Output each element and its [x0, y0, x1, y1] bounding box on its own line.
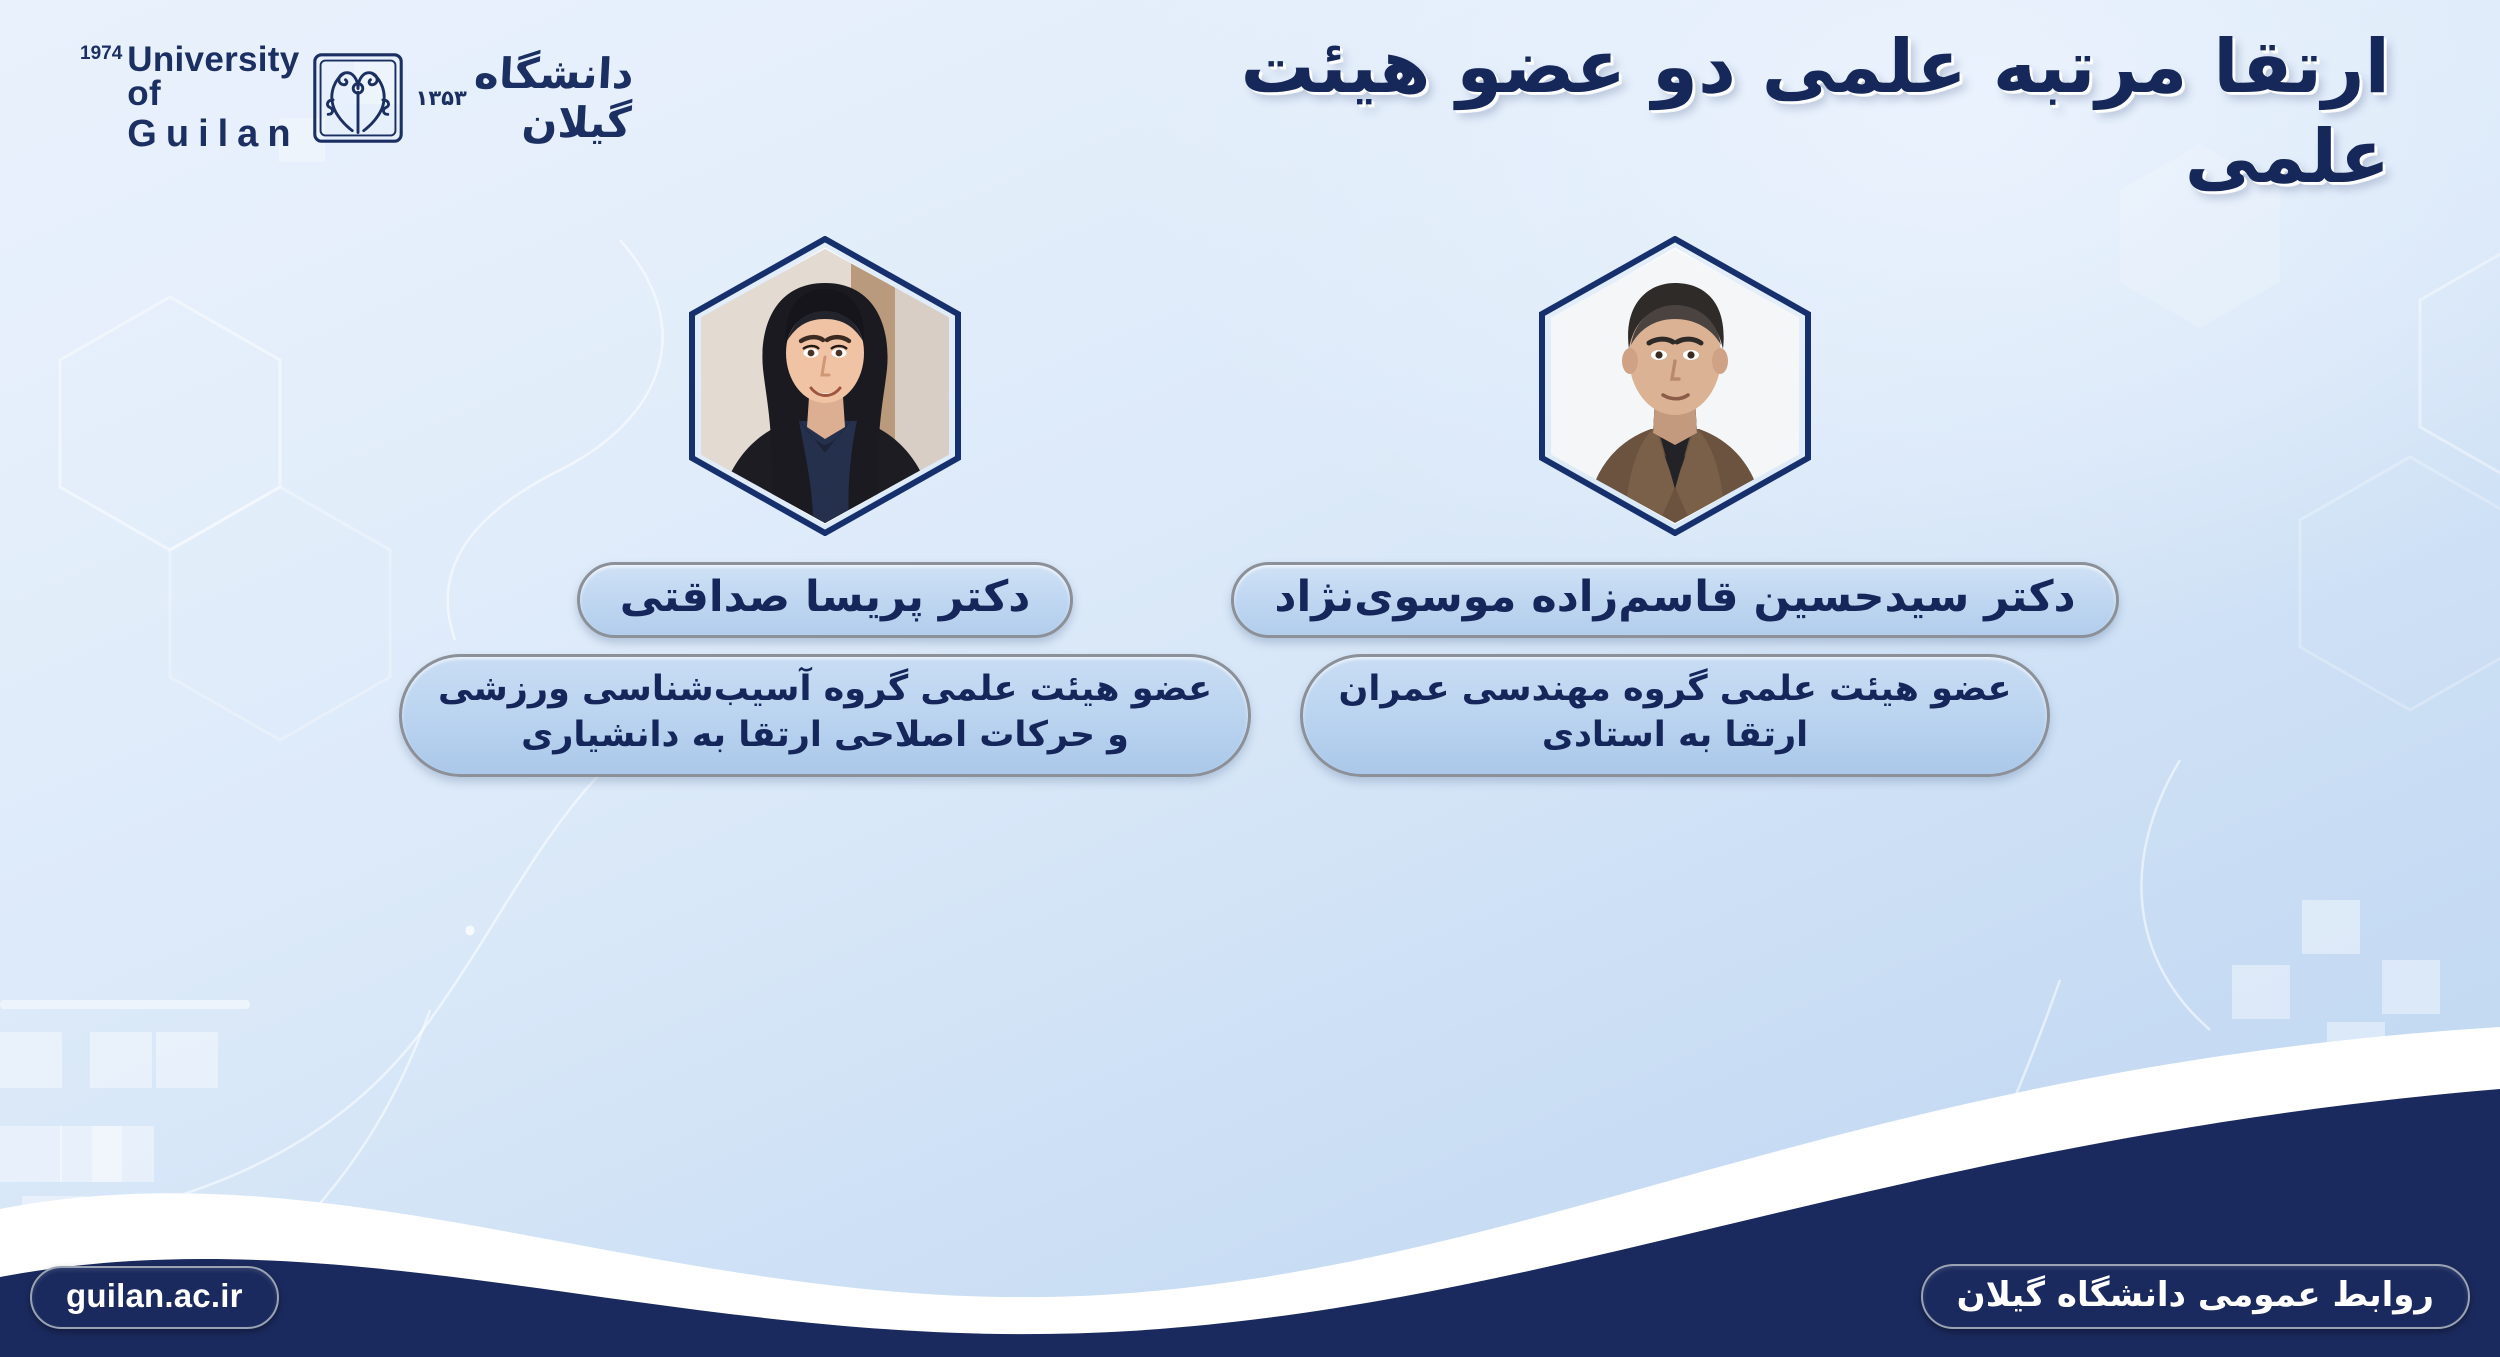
faculty-role-line2: و حرکات اصلاحی ارتقا به دانشیاری: [438, 713, 1212, 759]
avatar: [1539, 236, 1811, 536]
poster-canvas: 1974 University of Guilan دانشگاه گیلان …: [0, 0, 2500, 1357]
logo-founding-year-en: 1974: [80, 43, 122, 63]
logo-persian-name: دانشگاه گیلان ۱۳۵۳: [416, 49, 633, 147]
faculty-card: دکتر سیدحسین قاسم‌زاده موسوی‌نژاد عضو هی…: [1375, 236, 1975, 777]
page-title: ارتقا مرتبه علمی دو عضو هیئت علمی: [1060, 22, 2390, 203]
faculty-role-line1: عضو هیئت علمی گروه مهندسی عمران: [1339, 667, 2012, 713]
logo-university-name-fa: دانشگاه گیلان: [470, 49, 635, 147]
logo-university-of-text: University of: [127, 43, 299, 110]
faculty-name: دکتر پریسا صداقتی: [577, 562, 1074, 638]
logo-english-name: 1974 University of Guilan: [80, 43, 300, 153]
faculty-role-line2: ارتقا به استادی: [1339, 713, 2012, 759]
avatar: [689, 236, 961, 536]
university-logo: 1974 University of Guilan دانشگاه گیلان …: [80, 38, 520, 158]
website-badge[interactable]: guilan.ac.ir: [30, 1266, 279, 1329]
logo-founding-year-fa: ۱۳۵۳: [416, 86, 467, 110]
faculty-members-row: دکتر سیدحسین قاسم‌زاده موسوی‌نژاد عضو هی…: [0, 236, 2500, 777]
faculty-role-line1: عضو هیئت علمی گروه آسیب‌شناسی ورزشی: [438, 667, 1212, 713]
guilan-university-emblem-icon: [310, 50, 406, 146]
faculty-role: عضو هیئت علمی گروه مهندسی عمران ارتقا به…: [1300, 654, 2051, 777]
faculty-role: عضو هیئت علمی گروه آسیب‌شناسی ورزشی و حر…: [399, 654, 1251, 777]
faculty-name: دکتر سیدحسین قاسم‌زاده موسوی‌نژاد: [1231, 562, 2118, 638]
logo-guilan-text: Guilan: [127, 110, 299, 152]
faculty-card: دکتر پریسا صداقتی عضو هیئت علمی گروه آسی…: [525, 236, 1125, 777]
public-relations-badge: روابط عمومی دانشگاه گیلان: [1921, 1264, 2470, 1329]
